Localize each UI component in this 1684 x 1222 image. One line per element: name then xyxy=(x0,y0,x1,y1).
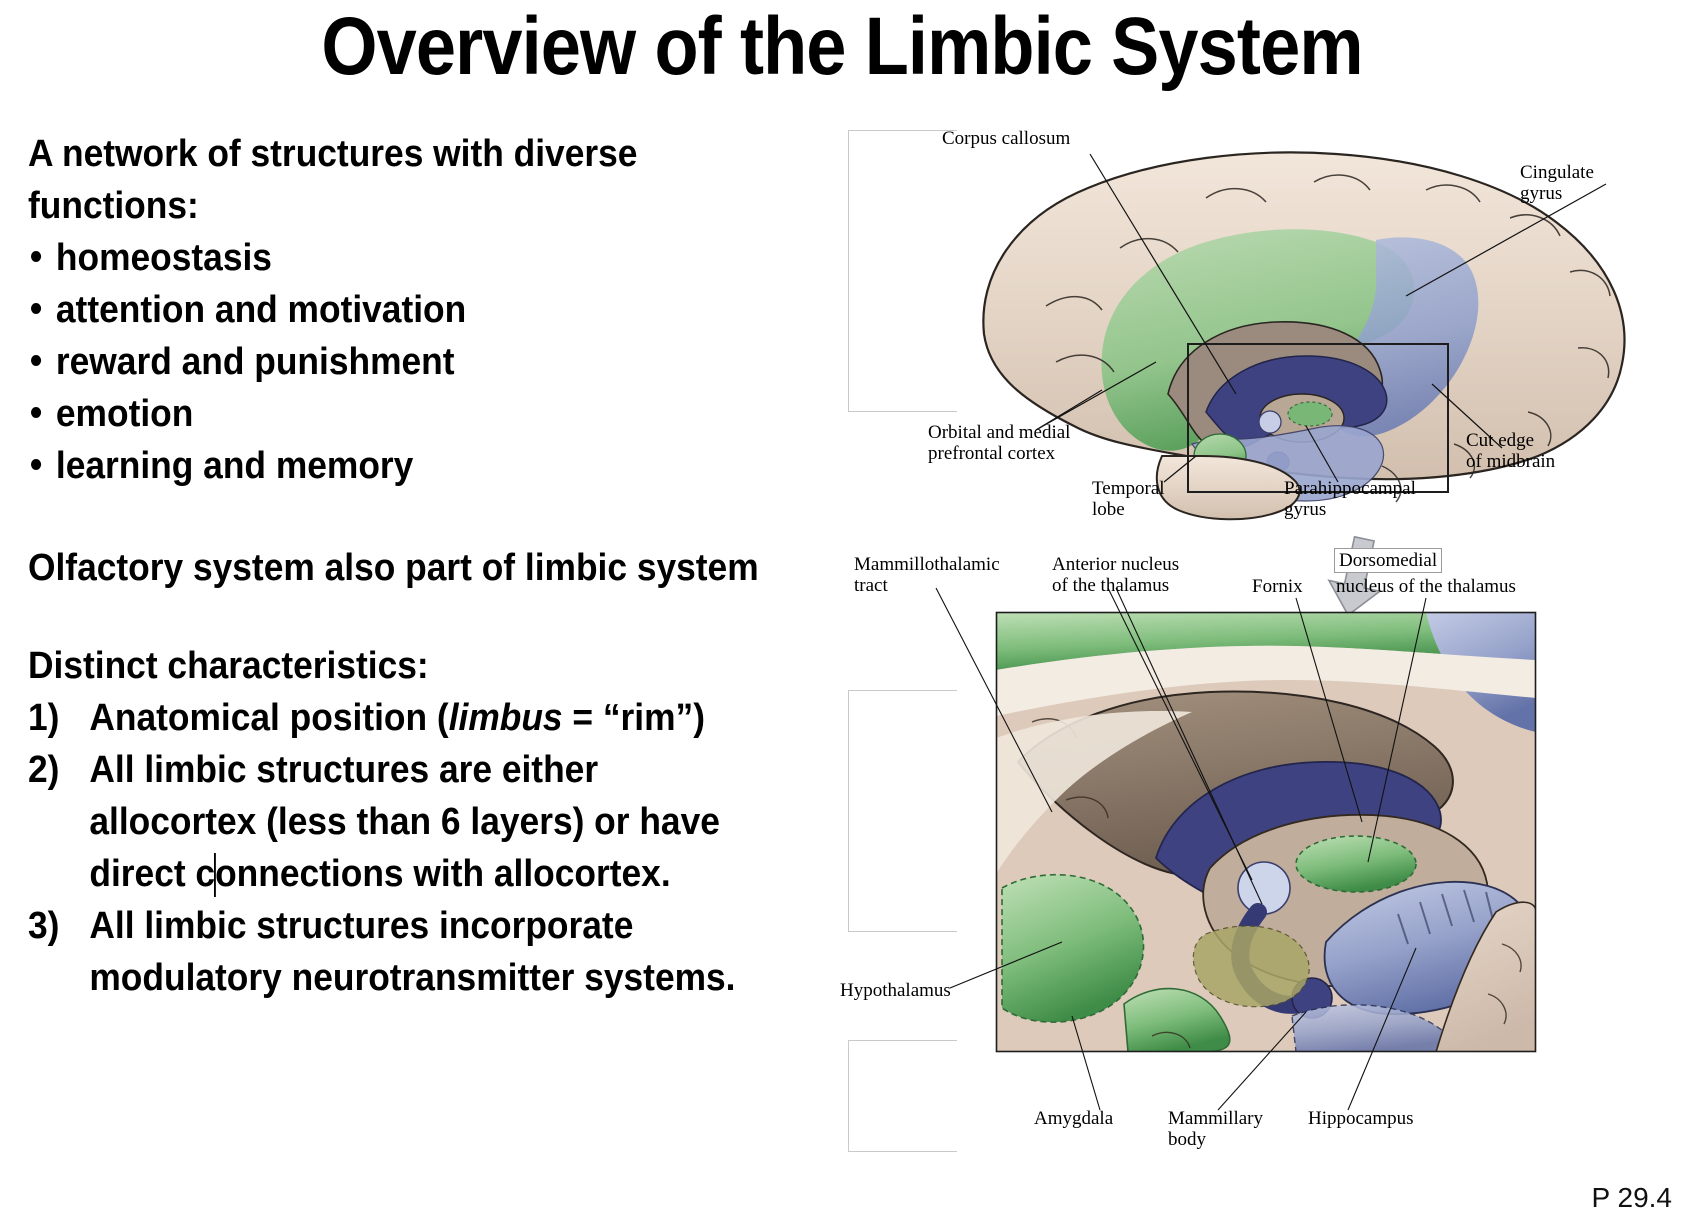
label-parahippocampal-gyrus: Parahippocampal gyrus xyxy=(1284,478,1416,520)
characteristics-list: 1) Anatomical position (limbus = “rim”) … xyxy=(28,692,800,1004)
olfactory-note: Olfactory system also part of limbic sys… xyxy=(28,542,800,594)
inset-content xyxy=(996,612,1536,1052)
label-hippocampus: Hippocampus xyxy=(1308,1108,1414,1129)
list-marker: 3) xyxy=(28,900,82,952)
list-line: All limbic structures are either xyxy=(89,744,800,796)
list-line: modulatory neurotransmitter systems. xyxy=(89,952,800,1004)
list-item: 1) Anatomical position (limbus = “rim”) xyxy=(28,692,800,744)
label-cingulate-gyrus: Cingulate gyrus xyxy=(1520,162,1594,204)
limbic-detail-svg xyxy=(996,612,1684,1172)
label-cut-edge-of-midbrain: Cut edge of midbrain xyxy=(1466,430,1555,472)
page-marker: P 29.4 xyxy=(1592,1182,1672,1214)
list-item: 2) All limbic structures are either allo… xyxy=(28,744,800,900)
list-marker: 2) xyxy=(28,744,82,796)
label-fornix: Fornix xyxy=(1252,576,1303,597)
label-nucleus-of-the-thalamus: nucleus of the thalamus xyxy=(1336,576,1516,597)
anterior-nucleus xyxy=(1259,411,1281,433)
spacer xyxy=(28,594,800,640)
slide-body-text: A network of structures with diverse fun… xyxy=(28,128,800,1004)
list-line: direct connections with allocortex. xyxy=(89,848,800,900)
list-item: attention and motivation xyxy=(28,284,800,336)
label-mammillothalamic-tract: Mammillothalamic tract xyxy=(854,554,1000,596)
lead-paragraph: A network of structures with diverse fun… xyxy=(28,128,800,232)
list-line: Anatomical position (limbus = “rim”) xyxy=(89,692,800,744)
list-item: learning and memory xyxy=(28,440,800,492)
figure-midsagittal-brain: Corpus callosum Cingulate gyrus Orbital … xyxy=(906,126,1684,526)
list-item: emotion xyxy=(28,388,800,440)
label-amygdala: Amygdala xyxy=(1034,1108,1113,1129)
functions-list: homeostasis attention and motivation rew… xyxy=(28,232,800,492)
lead-line-1: A network of structures with diverse xyxy=(28,128,800,180)
page-title: Overview of the Limbic System xyxy=(101,4,1583,90)
label-anterior-nucleus-of-thalamus: Anterior nucleus of the thalamus xyxy=(1052,554,1179,596)
figure-limbic-detail: Mammillothalamic tract Anterior nucleus … xyxy=(996,612,1684,1172)
list-item: 3) All limbic structures incorporate mod… xyxy=(28,900,800,1004)
placeholder-box-middle xyxy=(848,690,957,932)
text-after-caret: onnections with allocortex. xyxy=(215,853,671,895)
list-item: reward and punishment xyxy=(28,336,800,388)
dorsomedial-nucleus-detail xyxy=(1296,836,1416,892)
label-hypothalamus: Hypothalamus xyxy=(840,980,951,1001)
label-temporal-lobe: Temporal lobe xyxy=(1092,478,1165,520)
characteristics-heading: Distinct characteristics: xyxy=(28,640,800,692)
list-item: homeostasis xyxy=(28,232,800,284)
label-mammillary-body: Mammillary body xyxy=(1168,1108,1263,1150)
placeholder-box-lower xyxy=(848,1040,957,1152)
dorsomedial-nucleus xyxy=(1288,402,1332,426)
text-pre: Anatomical position ( xyxy=(89,697,448,739)
spacer xyxy=(28,492,800,542)
list-marker: 1) xyxy=(28,692,82,744)
text-post: = “rim”) xyxy=(563,697,705,739)
figure-area: Corpus callosum Cingulate gyrus Orbital … xyxy=(846,120,1684,1222)
text-before-caret: direct c xyxy=(89,853,215,895)
list-line: All limbic structures incorporate xyxy=(89,900,800,952)
lead-line-2: functions: xyxy=(28,180,800,232)
label-corpus-callosum: Corpus callosum xyxy=(942,128,1070,149)
text-italic: limbus xyxy=(449,697,563,739)
label-orbital-medial-prefrontal-cortex: Orbital and medial prefrontal cortex xyxy=(928,422,1070,464)
list-line: allocortex (less than 6 layers) or have xyxy=(89,796,800,848)
label-dorsomedial: Dorsomedial xyxy=(1334,548,1442,573)
